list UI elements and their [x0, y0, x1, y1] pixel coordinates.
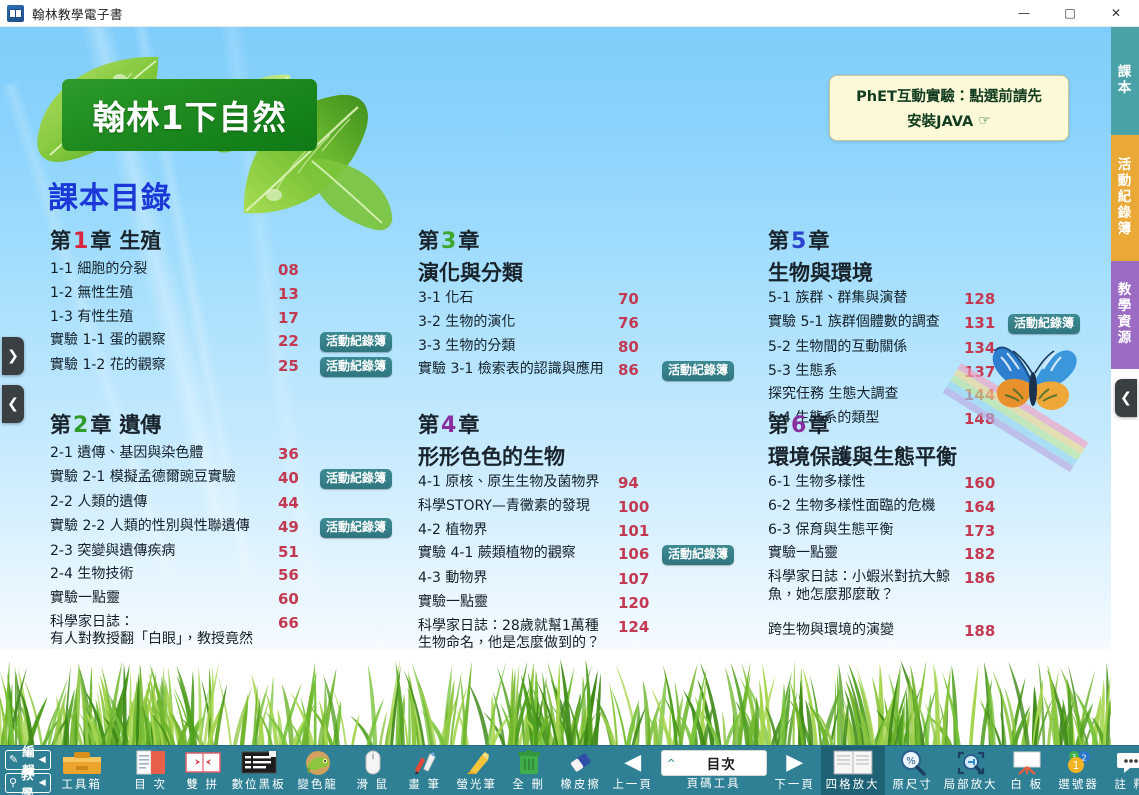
chapter-name: 生殖	[119, 229, 161, 253]
toc-list: 4-1 原核、原生生物及菌物界94科學STORY—青黴素的發現1004-2 植物…	[418, 474, 734, 653]
highlighter-icon	[462, 748, 492, 777]
leaf-decoration	[306, 153, 396, 233]
activity-log-badge[interactable]: 活動紀錄簿	[320, 518, 392, 538]
toc-entry[interactable]: 5-1 族群、群集與演替128	[768, 290, 1080, 309]
activity-log-badge[interactable]: 活動紀錄簿	[320, 469, 392, 489]
chapter-block-6: 第6章環境保護與生態平衡6-1 生物多樣性1606-2 生物多樣性面臨的危機16…	[768, 409, 1000, 714]
tool-actual-size[interactable]: % 原尺寸	[885, 746, 941, 795]
page-selector-box[interactable]: ^ 目次	[661, 750, 767, 776]
pencil-icon: ✎	[9, 753, 19, 766]
toc-entry-page: 164	[964, 498, 1000, 517]
toc-entry[interactable]: 1-1 細胞的分裂08	[50, 261, 392, 280]
toc-entry[interactable]: 科學STORY—青黴素的發現100	[418, 498, 734, 517]
toc-entry-page: 86	[618, 361, 654, 380]
toc-entry-label: 4-2 植物界	[418, 522, 618, 540]
toc-entry[interactable]: 4-1 原核、原生生物及菌物界94	[418, 474, 734, 493]
toc-entry-label: 5-2 生物間的互動關係	[768, 339, 964, 357]
toc-entry-label: 科學STORY—青黴素的發現	[418, 498, 618, 516]
chapter-number: 3	[441, 229, 456, 254]
toc-entry[interactable]: 重要名詞索引200	[768, 659, 1000, 678]
tool-region-zoom[interactable]: 局部放大	[941, 746, 1001, 795]
chapter-suffix: 章	[90, 413, 111, 437]
tab-activity-char-1: 動	[1118, 174, 1133, 190]
toc-entry-label: 1-1 細胞的分裂	[50, 261, 278, 279]
toc-entry[interactable]: 實驗一點靈120	[418, 594, 734, 613]
tab-textbook-char-0: 課	[1118, 65, 1133, 81]
toc-entry[interactable]: 1-3 有性生殖17	[50, 309, 392, 328]
side-tab-rail: 課 本 活 動 紀 錄 簿 教 學 資 源 ❮	[1111, 27, 1139, 745]
toc-entry-page: 66	[278, 614, 312, 633]
toc-entry-label: 科學家日誌： 有人對教授翻「白眼」，教授竟然 拍手叫好!?	[50, 614, 278, 667]
toc-entry-label: 實驗 1-1 蛋的觀察	[50, 332, 278, 350]
maximize-button[interactable]: □	[1047, 0, 1093, 27]
prev-page-icon: ◀	[624, 748, 641, 777]
activity-log-badge[interactable]: 活動紀錄簿	[662, 545, 734, 565]
chapter-suffix: 章	[808, 413, 829, 437]
activity-log-badge[interactable]: 活動紀錄簿	[320, 332, 392, 352]
toc-entry[interactable]: 實驗 4-1 蕨類植物的觀察106活動紀錄簿	[418, 545, 734, 565]
chapter-block-3: 第3章演化與分類3-1 化石703-2 生物的演化763-3 生物的分類80實驗…	[418, 225, 734, 381]
tab-activity-char-0: 活	[1118, 158, 1133, 174]
toc-entry-label: 2-3 突變與遺傳疾病	[50, 543, 278, 561]
toc-entry-page: 134	[964, 339, 1000, 358]
toc-entry[interactable]: 科學家日誌： 有人對教授翻「白眼」，教授竟然 拍手叫好!?66	[50, 614, 392, 667]
chapter-heading: 第5章	[768, 225, 1080, 255]
phet-notice-line2: 安裝JAVA	[907, 110, 973, 131]
tab-resources-char-3: 源	[1118, 331, 1133, 347]
toc-entry[interactable]: 解答209	[768, 696, 1000, 715]
tool-dual-page[interactable]: 雙 拼	[177, 746, 229, 795]
tab-activity-char-3: 錄	[1118, 206, 1133, 222]
tab-resources-char-1: 學	[1118, 299, 1133, 315]
toc-entry-label: 解答	[768, 696, 964, 714]
title-bar: 翰林教學電子書 — □ ✕	[0, 0, 1139, 27]
phet-notice-line1: PhET互動實驗：點選前請先	[856, 85, 1042, 106]
chapter-prefix: 第	[418, 413, 439, 437]
toc-entry[interactable]: 5-2 生物間的互動關係134	[768, 339, 1080, 358]
toc-entry-page: 107	[618, 570, 654, 589]
toc-entry-label: 實驗 4-1 蕨類植物的觀察	[418, 545, 618, 563]
toc-entry-page: 56	[278, 566, 312, 585]
toc-entry[interactable]: 探究任務 生態大調查144	[768, 386, 1080, 405]
toc-entry-page: 200	[964, 659, 1000, 678]
tab-teaching-resources[interactable]: 教 學 資 源	[1111, 261, 1139, 369]
chapter-name: 演化與分類	[418, 261, 734, 285]
tool-next-page-label: 下一頁	[774, 779, 815, 791]
tool-number-picker-label: 選號器	[1058, 779, 1099, 791]
toc-entry[interactable]: 6-3 保育與生態平衡173	[768, 522, 1000, 541]
toc-entry-label: 5-3 生態系	[768, 363, 964, 381]
svg-text:%: %	[906, 756, 916, 767]
tab-textbook[interactable]: 課 本	[1111, 27, 1139, 135]
tool-highlighter[interactable]: 螢光筆	[451, 746, 503, 795]
tool-next-page[interactable]: ▶ 下一頁	[769, 746, 821, 795]
chapter-number: 1	[73, 229, 88, 254]
toc-entry-label: 跨生物與環境的演變	[768, 622, 964, 640]
book-app-icon	[7, 5, 24, 22]
toc-entry-page: 137	[964, 363, 1000, 382]
chapter-block-5: 第5章生物與環境5-1 族群、群集與演替128實驗 5-1 族群個體數的調查13…	[768, 225, 1080, 429]
eraser-icon	[566, 748, 596, 777]
toc-list: 3-1 化石703-2 生物的演化763-3 生物的分類80實驗 3-1 檢索表…	[418, 290, 734, 381]
toc-entry-label: 2-4 生物技術	[50, 566, 278, 584]
toc-entry-page: 124	[618, 618, 654, 637]
toc-entry[interactable]: 4-3 動物界107	[418, 570, 734, 589]
toc-entry-label: 6-2 生物多樣性面臨的危機	[768, 498, 964, 516]
toc-entry-page: 80	[618, 338, 654, 357]
region-zoom-icon	[955, 748, 987, 777]
chapter-block-2: 第2章遺傳2-1 遺傳、基因與染色體36實驗 2-1 模擬孟德爾豌豆實驗40活動…	[50, 409, 392, 666]
trash-icon	[516, 748, 542, 777]
chapter-name: 遺傳	[119, 413, 161, 437]
chapter-prefix: 第	[418, 229, 439, 253]
dual-page-icon	[184, 748, 222, 777]
tool-blackboard-label: 數位黑板	[232, 779, 286, 791]
tool-number-picker[interactable]: 2 3 1 選號器	[1053, 746, 1105, 795]
toc-entry-page: 209	[964, 696, 1000, 715]
toc-entry-page: 13	[278, 285, 312, 304]
toc-entry[interactable]: 4-2 植物界101	[418, 522, 734, 541]
minimize-button[interactable]: —	[1001, 0, 1047, 27]
chapter-prefix: 第	[50, 413, 71, 437]
toc-entry[interactable]: 5-3 生態系137	[768, 363, 1080, 382]
chapter-number: 4	[441, 413, 456, 438]
tool-pen[interactable]: 畫 筆	[399, 746, 451, 795]
page-title: 課本目錄	[48, 173, 172, 217]
toc-entry-label: 實驗一點靈	[418, 594, 618, 612]
toc-entry-label: 3-2 生物的演化	[418, 314, 618, 332]
tool-eraser-label: 橡皮擦	[560, 779, 601, 791]
toc-entry[interactable]: 實驗 2-2 人類的性別與性聯遺傳49活動紀錄簿	[50, 518, 392, 538]
toc-entry[interactable]: 2-1 遺傳、基因與染色體36	[50, 445, 392, 464]
tool-annotation-label: 註 釋	[1114, 779, 1139, 791]
toc-entry-label: 探究任務 生態大調查	[768, 386, 964, 404]
chapter-heading: 第6章	[768, 409, 1000, 439]
chapter-suffix: 章	[458, 413, 479, 437]
next-page-icon: ▶	[786, 748, 803, 777]
tool-chameleon[interactable]: 變色龍	[289, 746, 347, 795]
toc-entry-label: 3-1 化石	[418, 290, 618, 308]
toc-entry-label: 科學家日誌：小蝦米對抗大鯨 魚，她怎麼那麼敢？	[768, 569, 964, 604]
tool-actual-size-label: 原尺寸	[892, 779, 933, 791]
toc-list: 2-1 遺傳、基因與染色體36實驗 2-1 模擬孟德爾豌豆實驗40活動紀錄簿2-…	[50, 445, 392, 666]
tool-clear-all[interactable]: 全 刪	[503, 746, 555, 795]
chameleon-icon	[302, 748, 334, 777]
toolbox-icon	[61, 748, 103, 777]
key-icon: ⚲	[9, 776, 18, 789]
tool-quad-zoom-label: 四格放大	[826, 779, 880, 791]
toc-entry-label: 3-3 生物的分類	[418, 338, 618, 356]
number-picker-icon: 2 3 1	[1063, 748, 1095, 777]
toc-entry[interactable]: 2-3 突變與遺傳疾病51	[50, 543, 392, 562]
chapter-suffix: 章	[808, 229, 829, 253]
toc-entry-label: 實驗 1-2 花的觀察	[50, 357, 278, 375]
toc-entry[interactable]: 2-4 生物技術56	[50, 566, 392, 585]
tool-whiteboard[interactable]: 白 板	[1001, 746, 1053, 795]
tool-page-selector[interactable]: ^ 目次 頁碼工具	[659, 746, 769, 795]
toc-entry-label: 科學家日誌：28歲就幫1萬種 生物命名，他是怎麼做到的？	[418, 618, 618, 653]
pointing-hand-icon: ☞	[978, 113, 991, 129]
toc-entry[interactable]: 實驗 2-1 模擬孟德爾豌豆實驗40活動紀錄簿	[50, 469, 392, 489]
chapter-prefix: 第	[50, 229, 71, 253]
chapter-heading: 第3章	[418, 225, 734, 255]
app-window: 翰林教學電子書 — □ ✕	[0, 0, 1139, 795]
book-page-canvas: 翰林1下自然 PhET互動實驗：點選前請先 安裝JAVA ☞ 課本目錄 第1章生…	[0, 27, 1111, 745]
annotation-icon	[1115, 748, 1139, 777]
toc-entry-page: 173	[964, 522, 1000, 541]
tool-toolbox[interactable]: 工具箱	[51, 746, 113, 795]
toc-entry-label: 實驗 2-1 模擬孟德爾豌豆實驗	[50, 469, 278, 487]
teach-mode-label: 教 學	[21, 764, 36, 795]
toc-entry-page: 188	[964, 622, 1000, 641]
toc-entry-label: 實驗 5-1 族群個體數的調查	[768, 314, 964, 332]
toc-entry-page: 44	[278, 494, 312, 513]
toc-entry-page: 101	[618, 522, 654, 541]
tool-toolbox-label: 工具箱	[61, 779, 102, 791]
tool-quad-zoom[interactable]: 四格放大	[821, 746, 885, 795]
chapter-heading: 第4章	[418, 409, 734, 439]
tool-highlighter-label: 螢光筆	[456, 779, 497, 791]
toc-entry[interactable]: 3-2 生物的演化76	[418, 314, 734, 333]
tool-mouse-label: 滑 鼠	[356, 779, 389, 791]
toc-entry-page: 160	[964, 474, 1000, 493]
chapter-prefix: 第	[768, 229, 789, 253]
tool-dual-page-label: 雙 拼	[186, 779, 219, 791]
chapter-suffix: 章	[458, 229, 479, 253]
toc-entry[interactable]: 實驗 1-1 蛋的觀察22活動紀錄簿	[50, 332, 392, 352]
quad-zoom-icon	[831, 748, 875, 777]
window-controls: — □ ✕	[1001, 0, 1139, 27]
chapter-block-4: 第4章形形色色的生物4-1 原核、原生生物及菌物界94科學STORY—青黴素的發…	[418, 409, 734, 653]
pen-icon	[410, 748, 440, 777]
toc-entry[interactable]: 6-1 生物多樣性160	[768, 474, 1000, 493]
page-selector-value: 目次	[682, 753, 761, 773]
toc-entry-page: 40	[278, 469, 312, 488]
toc-entry-page: 186	[964, 569, 1000, 588]
whiteboard-icon	[1011, 748, 1043, 777]
toc-entry-page: 17	[278, 309, 312, 328]
toc-entry[interactable]: 1-2 無性生殖13	[50, 285, 392, 304]
actual-size-icon: %	[898, 748, 928, 777]
tool-eraser[interactable]: 橡皮擦	[555, 746, 607, 795]
toc-entry-label: 6-1 生物多樣性	[768, 474, 964, 492]
toc-list: 6-1 生物多樣性1606-2 生物多樣性面臨的危機1646-3 保育與生態平衡…	[768, 474, 1000, 714]
toc-entry-label: 重要名詞索引	[768, 659, 964, 677]
toc-entry-label: 實驗一點靈	[50, 590, 278, 608]
toc-entry[interactable]: 實驗 1-2 花的觀察25活動紀錄簿	[50, 357, 392, 377]
toc-entry-label: 實驗一點靈	[768, 545, 964, 563]
mouse-icon	[361, 748, 385, 777]
toc-entry-page: 100	[618, 498, 654, 517]
tab-activity-char-2: 紀	[1118, 190, 1133, 206]
toc-entry[interactable]: 2-2 人類的遺傳44	[50, 494, 392, 513]
bottom-toolbar: ✎ 編 輯 ◀ ⚲ 教 學 ◀ 工具箱	[0, 745, 1139, 795]
mode-switch-group: ✎ 編 輯 ◀ ⚲ 教 學 ◀	[0, 746, 51, 795]
panel-expand-button[interactable]: ❯	[2, 337, 24, 375]
tool-mouse[interactable]: 滑 鼠	[347, 746, 399, 795]
toc-entry-page: 70	[618, 290, 654, 309]
tool-prev-page-label: 上一頁	[612, 779, 653, 791]
toc-entry-page: 106	[618, 545, 654, 564]
toc-entry[interactable]: 科學家日誌：小蝦米對抗大鯨 魚，她怎麼那麼敢？186	[768, 569, 1000, 604]
svg-text:1: 1	[1072, 759, 1079, 772]
toc-entry-label: 5-1 族群、群集與演替	[768, 290, 964, 308]
toc-entry-page: 08	[278, 261, 312, 280]
toc-entry-page: 120	[618, 594, 654, 613]
tool-clear-all-label: 全 刪	[512, 779, 545, 791]
toc-entry[interactable]: 3-3 生物的分類80	[418, 338, 734, 357]
tool-whiteboard-label: 白 板	[1010, 779, 1043, 791]
book-title-banner: 翰林1下自然	[62, 79, 317, 151]
toc-entry-label: 4-3 動物界	[418, 570, 618, 588]
chapter-heading: 第1章生殖	[50, 225, 392, 255]
activity-log-badge[interactable]: 活動紀錄簿	[1008, 314, 1080, 334]
teach-mode-button[interactable]: ⚲ 教 學 ◀	[5, 773, 51, 793]
toc-entry-label: 6-3 保育與生態平衡	[768, 522, 964, 540]
toc-entry-page: 36	[278, 445, 312, 464]
chapter-name: 形形色色的生物	[418, 445, 734, 469]
toc-entry-page: 49	[278, 518, 312, 537]
window-title: 翰林教學電子書	[32, 4, 123, 23]
chevron-left-icon: ◀	[39, 778, 47, 788]
toc-entry-page: 22	[278, 332, 312, 351]
tool-blackboard[interactable]: 數位黑板	[229, 746, 289, 795]
tool-contents-label: 目 次	[134, 779, 167, 791]
tool-region-zoom-label: 局部放大	[944, 779, 998, 791]
toc-entry-page: 94	[618, 474, 654, 493]
toc-entry-label: 4-1 原核、原生生物及菌物界	[418, 474, 618, 492]
toc-entry-page: 131	[964, 314, 1000, 333]
toc-entry-label: 1-3 有性生殖	[50, 309, 278, 327]
chapter-number: 2	[73, 413, 88, 438]
toc-list: 1-1 細胞的分裂081-2 無性生殖131-3 有性生殖17實驗 1-1 蛋的…	[50, 261, 392, 377]
tab-activity-log[interactable]: 活 動 紀 錄 簿	[1111, 135, 1139, 261]
toc-entry-page: 76	[618, 314, 654, 333]
chapter-heading: 第2章遺傳	[50, 409, 392, 439]
tool-page-selector-label: 頁碼工具	[687, 778, 741, 790]
tab-activity-char-4: 簿	[1118, 222, 1133, 238]
toc-entry-page: 60	[278, 590, 312, 609]
activity-log-badge[interactable]: 活動紀錄簿	[662, 361, 734, 381]
toc-entry[interactable]: 實驗一點靈60	[50, 590, 392, 609]
phet-notice[interactable]: PhET互動實驗：點選前請先 安裝JAVA ☞	[829, 75, 1069, 141]
tool-annotation[interactable]: 註 釋	[1105, 746, 1139, 795]
toc-entry-page: 182	[964, 545, 1000, 564]
rail-collapse-button[interactable]: ❮	[1115, 379, 1137, 417]
toc-entry-page: 25	[278, 357, 312, 376]
panel-collapse-button[interactable]: ❮	[2, 385, 24, 423]
toc-entry-label: 實驗 2-2 人類的性別與性聯遺傳	[50, 518, 278, 536]
toc-entry-page: 51	[278, 543, 312, 562]
chapter-number: 6	[791, 413, 806, 438]
tool-prev-page[interactable]: ◀ 上一頁	[607, 746, 659, 795]
tool-pen-label: 畫 筆	[408, 779, 441, 791]
close-button[interactable]: ✕	[1093, 0, 1139, 27]
tool-chameleon-label: 變色龍	[297, 779, 338, 791]
chapter-name: 環境保護與生態平衡	[768, 445, 1000, 469]
chapter-suffix: 章	[90, 229, 111, 253]
toc-entry[interactable]: 3-1 化石70	[418, 290, 734, 309]
tool-contents[interactable]: 目 次	[125, 746, 177, 795]
toc-entry-page: 128	[964, 290, 1000, 309]
toc-entry[interactable]: 科學家日誌：28歲就幫1萬種 生物命名，他是怎麼做到的？124	[418, 618, 734, 653]
chapter-number: 5	[791, 229, 806, 254]
toc-entry-label: 2-2 人類的遺傳	[50, 494, 278, 512]
toc-entry[interactable]: 6-2 生物多樣性面臨的危機164	[768, 498, 1000, 517]
toc-entry[interactable]: 實驗一點靈182	[768, 545, 1000, 564]
book-title: 翰林1下自然	[93, 91, 287, 139]
blackboard-icon	[240, 748, 278, 777]
activity-log-badge[interactable]: 活動紀錄簿	[320, 357, 392, 377]
toc-entry-label: 2-1 遺傳、基因與染色體	[50, 445, 278, 463]
toc-entry[interactable]: 實驗 5-1 族群個體數的調查131活動紀錄簿	[768, 314, 1080, 334]
tab-textbook-char-1: 本	[1118, 81, 1133, 97]
contents-icon	[134, 748, 168, 777]
toc-entry[interactable]: 實驗 3-1 檢索表的認識與應用86活動紀錄簿	[418, 361, 734, 381]
toc-entry-label: 實驗 3-1 檢索表的認識與應用	[418, 361, 618, 379]
toc-entry-page: 144	[964, 386, 1000, 405]
toc-entry[interactable]: 跨生物與環境的演變188	[768, 622, 1000, 641]
chapter-prefix: 第	[768, 413, 789, 437]
chapter-block-1: 第1章生殖1-1 細胞的分裂081-2 無性生殖131-3 有性生殖17實驗 1…	[50, 225, 392, 377]
chapter-name: 生物與環境	[768, 261, 1080, 285]
chevron-left-icon: ◀	[39, 755, 47, 765]
tab-resources-char-0: 教	[1118, 283, 1133, 299]
toc-entry-label: 1-2 無性生殖	[50, 285, 278, 303]
chevron-up-icon: ^	[667, 757, 676, 770]
tab-resources-char-2: 資	[1118, 315, 1133, 331]
